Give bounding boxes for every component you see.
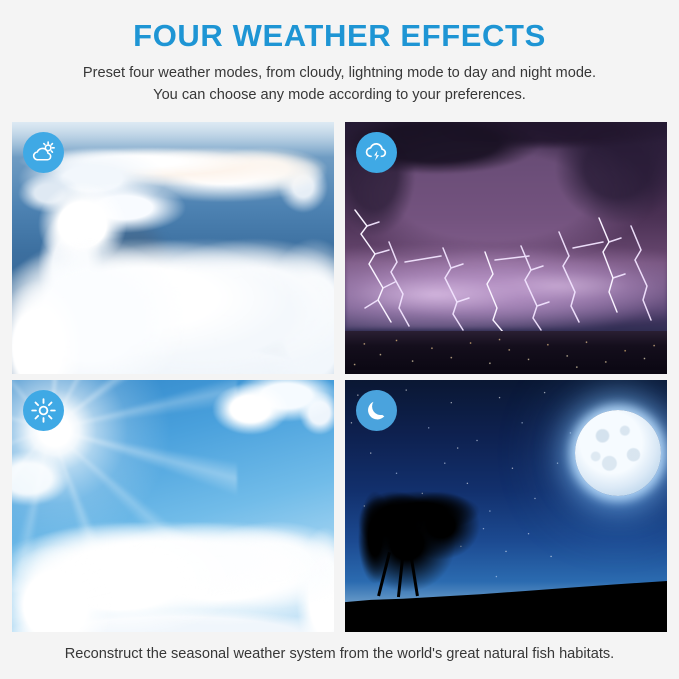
subtitle-line-1: Preset four weather modes, from cloudy, … — [20, 62, 660, 84]
moon-craters — [575, 410, 661, 496]
cloud-sun-icon — [30, 139, 57, 166]
sun-icon-badge[interactable] — [23, 390, 64, 431]
footer-caption: Reconstruct the seasonal weather system … — [0, 646, 679, 662]
moon-icon-badge[interactable] — [356, 390, 397, 431]
cloud-lightning-icon-badge[interactable] — [356, 132, 397, 173]
day-cloud-top-right — [212, 380, 334, 435]
weather-panel-lightning[interactable] — [345, 122, 667, 374]
weather-mode-grid — [12, 122, 667, 638]
weather-panel-day[interactable] — [12, 380, 334, 632]
page-subtitle: Preset four weather modes, from cloudy, … — [20, 62, 660, 106]
subtitle-line-2: You can choose any mode according to you… — [20, 84, 660, 106]
cloud-sun-icon-badge[interactable] — [23, 132, 64, 173]
city-lights — [345, 331, 667, 374]
weather-panel-cloudy[interactable] — [12, 122, 334, 374]
cloudy-cloud-mass — [12, 238, 334, 374]
day-cloud-main — [12, 521, 334, 632]
page-title: FOUR WEATHER EFFECTS — [0, 20, 679, 53]
moon-icon — [363, 397, 390, 424]
sun-icon — [30, 397, 57, 424]
tree-silhouette — [358, 491, 480, 592]
weather-panel-night[interactable] — [345, 380, 667, 632]
cloud-lightning-icon — [363, 139, 390, 166]
moon — [575, 410, 661, 496]
header: FOUR WEATHER EFFECTS Preset four weather… — [0, 0, 679, 106]
product-feature-page: FOUR WEATHER EFFECTS Preset four weather… — [0, 0, 679, 679]
day-cloud-left — [12, 451, 70, 506]
